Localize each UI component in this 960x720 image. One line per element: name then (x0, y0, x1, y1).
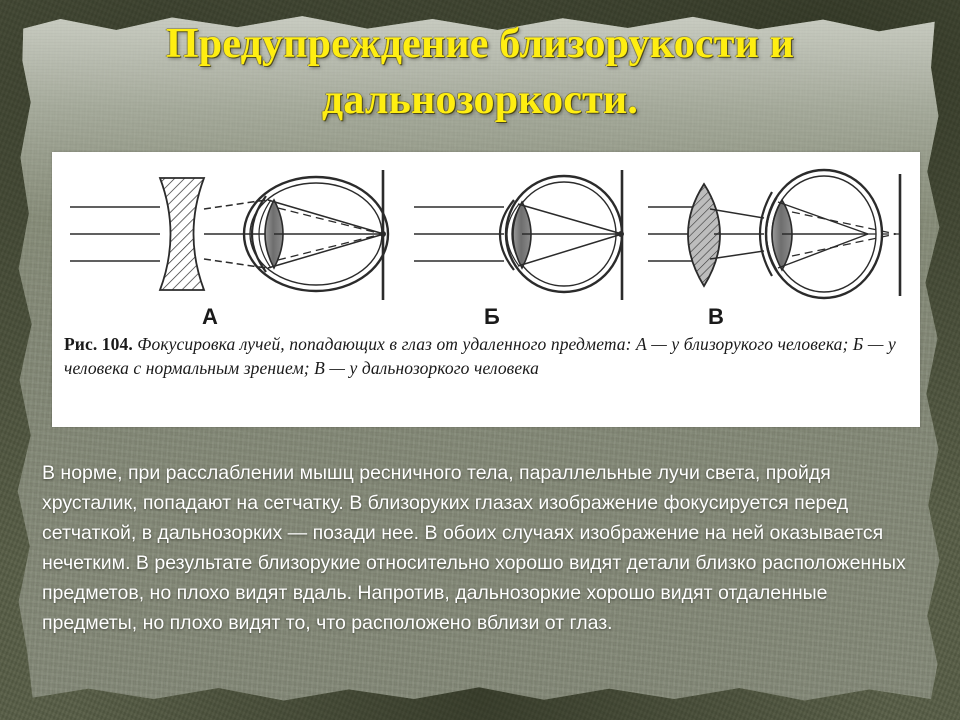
diagram-b: Б (414, 170, 624, 329)
figure-caption: Рис. 104. Фокусировка лучей, попадающих … (64, 332, 910, 380)
figure-panel: А (52, 152, 920, 427)
crystalline-lens-b (513, 202, 531, 268)
body-paragraph: В норме, при расслаблении мышц ресничног… (42, 458, 922, 638)
page-title: Предупреждение близорукости и дальнозорк… (40, 16, 920, 128)
crystalline-lens-c (772, 200, 792, 270)
convex-lens-c (688, 184, 720, 286)
figure-caption-text: Фокусировка лучей, попадающих в глаз от … (64, 334, 896, 378)
diagrams-svg: А (52, 152, 920, 332)
diagram-label-a: А (202, 304, 218, 329)
concave-lens-a (160, 178, 204, 290)
diagram-label-c: В (708, 304, 724, 329)
diagram-c: В (648, 170, 900, 329)
figure-caption-number: Рис. 104. (64, 334, 133, 354)
diagram-a: А (70, 170, 388, 329)
diagram-label-b: Б (484, 304, 500, 329)
eye-focus-diagrams: А (52, 152, 920, 332)
presentation-slide: Предупреждение близорукости и дальнозорк… (0, 0, 960, 720)
